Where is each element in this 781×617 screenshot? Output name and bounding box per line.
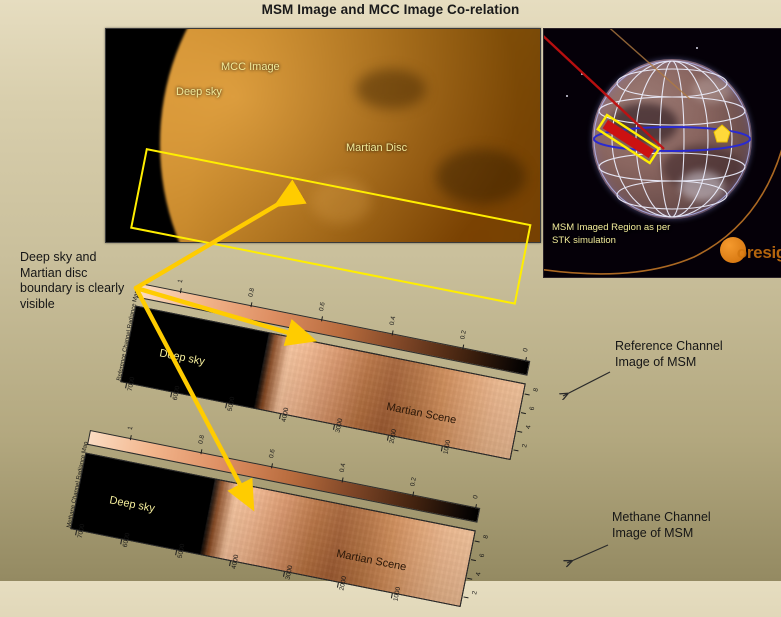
colorbar-tick-label: 0.2: [409, 477, 418, 487]
x-tick-label: 7000: [127, 376, 137, 392]
watermark-text: oresig: [737, 243, 781, 263]
mcc-image-caption: MCC Image: [221, 61, 280, 73]
x-tick-label: 4000: [231, 554, 241, 570]
y-tick-label: 8: [482, 534, 490, 539]
slide-canvas: MSM Image and MCC Image Co-relation Deep…: [0, 0, 781, 581]
x-tick-label: 2000: [339, 576, 349, 592]
y-tick-label: 2: [521, 443, 529, 448]
y-tick-label: 4: [525, 425, 533, 430]
methane-channel-figure: 1 0.8 0.6 0.4 0.2 0 Deep sky Martian Sce…: [70, 430, 480, 607]
star-icon: [581, 73, 583, 75]
page-title: MSM Image and MCC Image Co-relation: [0, 2, 781, 17]
x-tick-label: 3000: [285, 565, 295, 581]
globe-graticule: [592, 59, 752, 219]
x-tick-label: 6000: [172, 385, 182, 401]
mcc-martian-disc-label: Martian Disc: [346, 142, 407, 154]
y-tick-label: 8: [532, 387, 540, 392]
y-tick-label: 2: [471, 590, 479, 595]
colorbar-tick-label: 0: [472, 495, 480, 500]
colorbar-tick-label: 0.8: [247, 287, 256, 297]
x-tick-label: 1000: [392, 586, 402, 602]
methane-channel-note: Methane Channel Image of MSM: [612, 510, 722, 541]
mcc-deep-sky-label: Deep sky: [176, 86, 222, 98]
colorbar-tick-label: 0: [522, 348, 530, 353]
x-tick-label: 3000: [335, 418, 345, 434]
colorbar-tick-label: 0.8: [197, 434, 206, 444]
disc-surface-blotch: [356, 69, 426, 109]
stk-caption: MSM Imaged Region as per STK simulation: [552, 222, 670, 247]
stk-caption-line1: MSM Imaged Region as per: [552, 222, 670, 235]
x-tick-label: 2000: [389, 429, 399, 445]
colorbar-tick-label: 0.6: [318, 302, 327, 312]
colorbar-tick-label: 0.4: [339, 463, 348, 473]
y-tick-label: 4: [475, 572, 483, 577]
y-tick-label: 6: [479, 553, 487, 558]
stk-caption-line2: STK simulation: [552, 235, 670, 248]
stk-simulation-panel: oresig MSM Imaged Region as per STK simu…: [543, 28, 781, 278]
star-icon: [696, 47, 698, 49]
x-tick-label: 6000: [122, 532, 132, 548]
x-tick-label: 7000: [77, 523, 87, 539]
disc-surface-blotch: [436, 149, 526, 204]
x-tick-label: 5000: [177, 543, 187, 559]
x-tick-label: 5000: [227, 396, 237, 412]
x-tick-label: 1000: [442, 439, 452, 455]
star-icon: [566, 95, 568, 97]
x-tick-label: 4000: [281, 407, 291, 423]
colorbar-tick-label: 0.2: [459, 330, 468, 340]
reference-channel-note: Reference Channel Image of MSM: [615, 339, 725, 370]
colorbar-tick-label: 0.4: [389, 316, 398, 326]
reference-channel-figure: 1 0.8 0.6 0.4 0.2 0 Deep sky Martian Sce…: [120, 283, 530, 460]
colorbar-tick-label: 0.6: [268, 449, 277, 459]
colorbar-tick-label: 1: [177, 279, 185, 284]
colorbar-tick-label: 1: [127, 426, 135, 431]
y-tick-label: 6: [529, 406, 537, 411]
boundary-note: Deep sky and Martian disc boundary is cl…: [20, 250, 135, 312]
